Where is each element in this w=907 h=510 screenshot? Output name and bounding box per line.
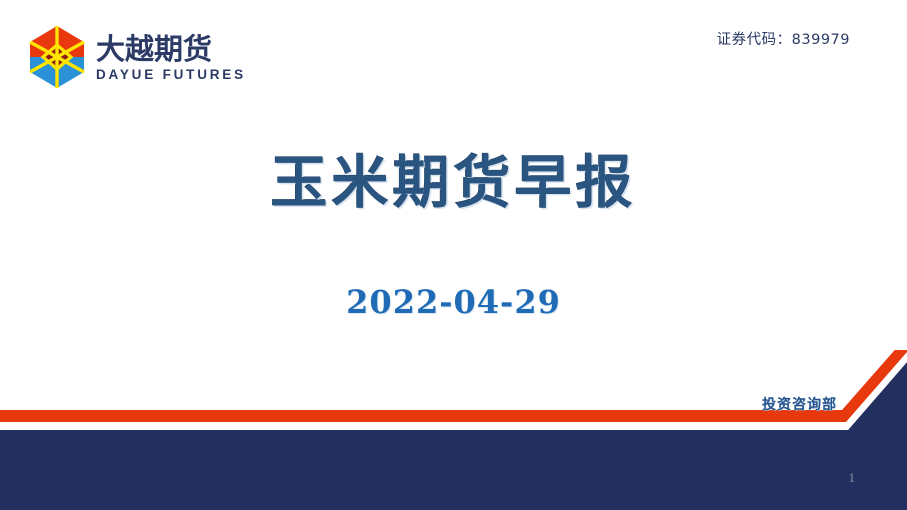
brand-name-cn-text: 大越期货	[96, 32, 212, 66]
slide-canvas: 大越期货 DAYUE FUTURES 证券代码：839979 玉米期货早报 20…	[0, 0, 907, 510]
security-code-label: 证券代码：839979	[717, 28, 850, 49]
dayue-futures-cube-logo-icon	[28, 25, 86, 89]
page-title: 玉米期货早报	[0, 152, 907, 215]
brand-logo-block[interactable]: 大越期货 DAYUE FUTURES	[28, 25, 246, 89]
brand-name-en: DAYUE FUTURES	[96, 68, 246, 82]
page-number: 1	[849, 470, 856, 486]
brand-name-cn-icon: 大越期货	[96, 32, 244, 66]
brand-wordmark: 大越期货 DAYUE FUTURES	[96, 32, 246, 82]
footer-banner-graphic	[0, 350, 907, 510]
footer-navy-shape	[0, 362, 907, 510]
department-label: 投资咨询部	[762, 394, 837, 414]
report-date: 2022-04-29	[0, 283, 907, 321]
